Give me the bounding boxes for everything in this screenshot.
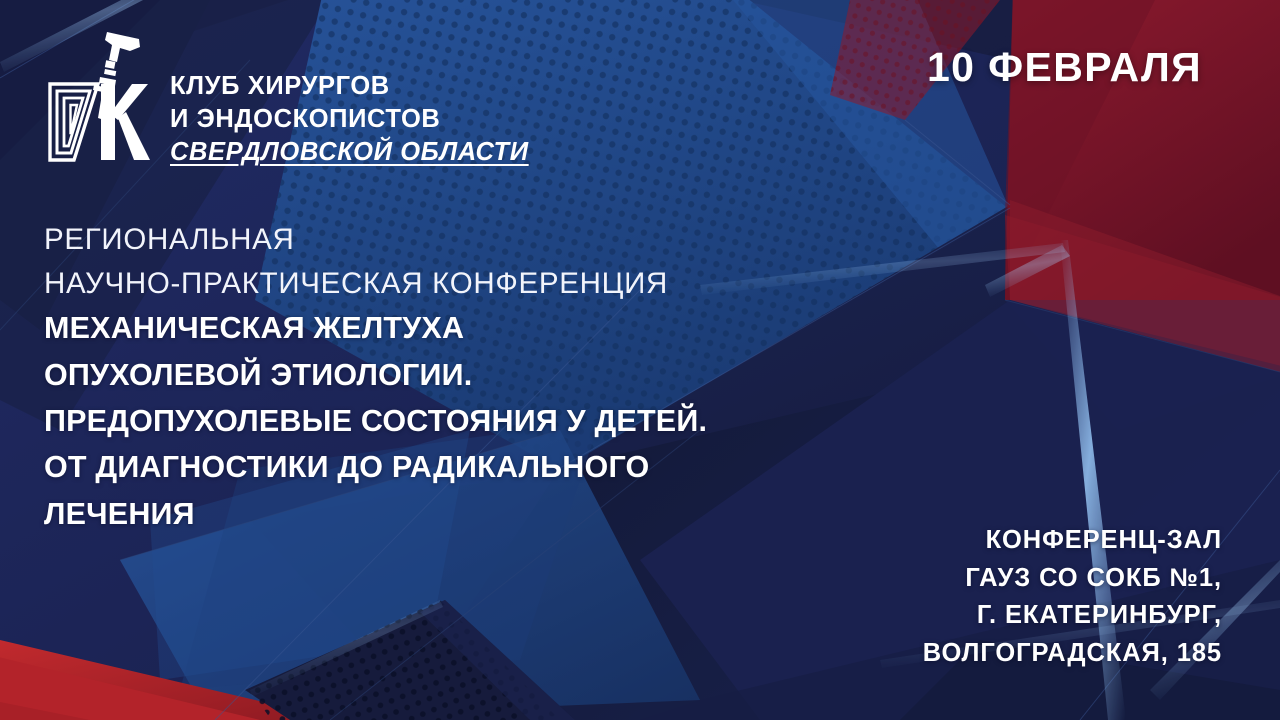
surgical-retractor-dk-monogram-icon <box>44 28 156 168</box>
venue-line-1: КОНФЕРЕНЦ-ЗАЛ <box>923 522 1222 559</box>
conference-poster: КЛУБ ХИРУРГОВ И ЭНДОСКОПИСТОВ СВЕРДЛОВСК… <box>0 0 1280 720</box>
event-subtitle-line-2: НАУЧНО-ПРАКТИЧЕСКАЯ КОНФЕРЕНЦИЯ <box>44 262 834 306</box>
venue-line-2: ГАУЗ СО СОКБ №1, <box>923 560 1222 597</box>
event-title-line-5: ЛЕЧЕНИЯ <box>44 491 834 537</box>
venue-line-4: ВОЛГОГРАДСКАЯ, 185 <box>923 635 1222 672</box>
logo-line-1: КЛУБ ХИРУРГОВ <box>170 70 529 103</box>
event-subtitle-line-1: РЕГИОНАЛЬНАЯ <box>44 218 834 262</box>
event-title-line-3: ПРЕДОПУХОЛЕВЫЕ СОСТОЯНИЯ У ДЕТЕЙ. <box>44 398 834 444</box>
venue-address-block: КОНФЕРЕНЦ-ЗАЛ ГАУЗ СО СОКБ №1, Г. ЕКАТЕР… <box>923 522 1222 672</box>
organization-logo: КЛУБ ХИРУРГОВ И ЭНДОСКОПИСТОВ СВЕРДЛОВСК… <box>44 28 529 169</box>
event-title-block: РЕГИОНАЛЬНАЯ НАУЧНО-ПРАКТИЧЕСКАЯ КОНФЕРЕ… <box>44 218 834 537</box>
event-title-line-1: МЕХАНИЧЕСКАЯ ЖЕЛТУХА <box>44 305 834 351</box>
logo-line-3: СВЕРДЛОВСКОЙ ОБЛАСТИ <box>170 136 529 169</box>
logo-line-2: И ЭНДОСКОПИСТОВ <box>170 103 529 136</box>
venue-line-3: Г. ЕКАТЕРИНБУРГ, <box>923 597 1222 634</box>
event-date: 10 ФЕВРАЛЯ <box>927 44 1202 91</box>
event-title-line-4: ОТ ДИАГНОСТИКИ ДО РАДИКАЛЬНОГО <box>44 444 834 490</box>
event-title-line-2: ОПУХОЛЕВОЙ ЭТИОЛОГИИ. <box>44 352 834 398</box>
logo-wordmark: КЛУБ ХИРУРГОВ И ЭНДОСКОПИСТОВ СВЕРДЛОВСК… <box>170 70 529 169</box>
